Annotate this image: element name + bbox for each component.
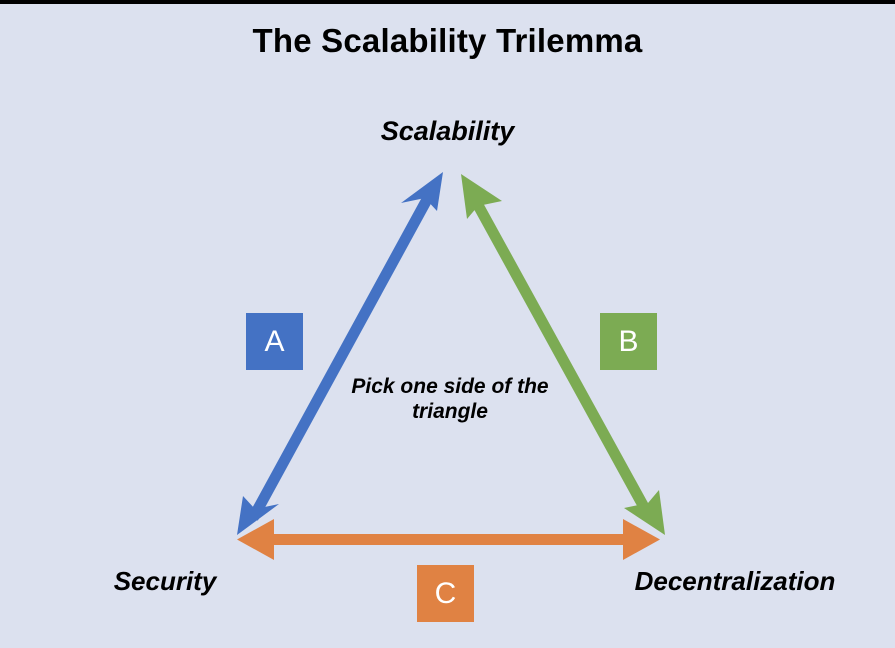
side-badge-b-label: B — [618, 325, 638, 359]
side-badge-a-label: A — [264, 325, 284, 359]
side-badge-c-label: C — [435, 577, 457, 611]
side-badge-b[interactable]: B — [600, 313, 657, 370]
vertex-label-decentralization: Decentralization — [590, 566, 880, 597]
center-instruction-text: Pick one side of the triangle — [330, 375, 570, 425]
vertex-label-security: Security — [40, 566, 290, 597]
slide-canvas: The Scalability Trilemma Scalability Sec… — [0, 0, 895, 648]
side-badge-c[interactable]: C — [417, 565, 474, 622]
trilemma-diagram — [0, 4, 895, 648]
page-title: The Scalability Trilemma — [0, 22, 895, 61]
arrow-side-c — [237, 519, 660, 560]
vertex-label-scalability: Scalability — [0, 116, 895, 148]
side-badge-a[interactable]: A — [246, 313, 303, 370]
